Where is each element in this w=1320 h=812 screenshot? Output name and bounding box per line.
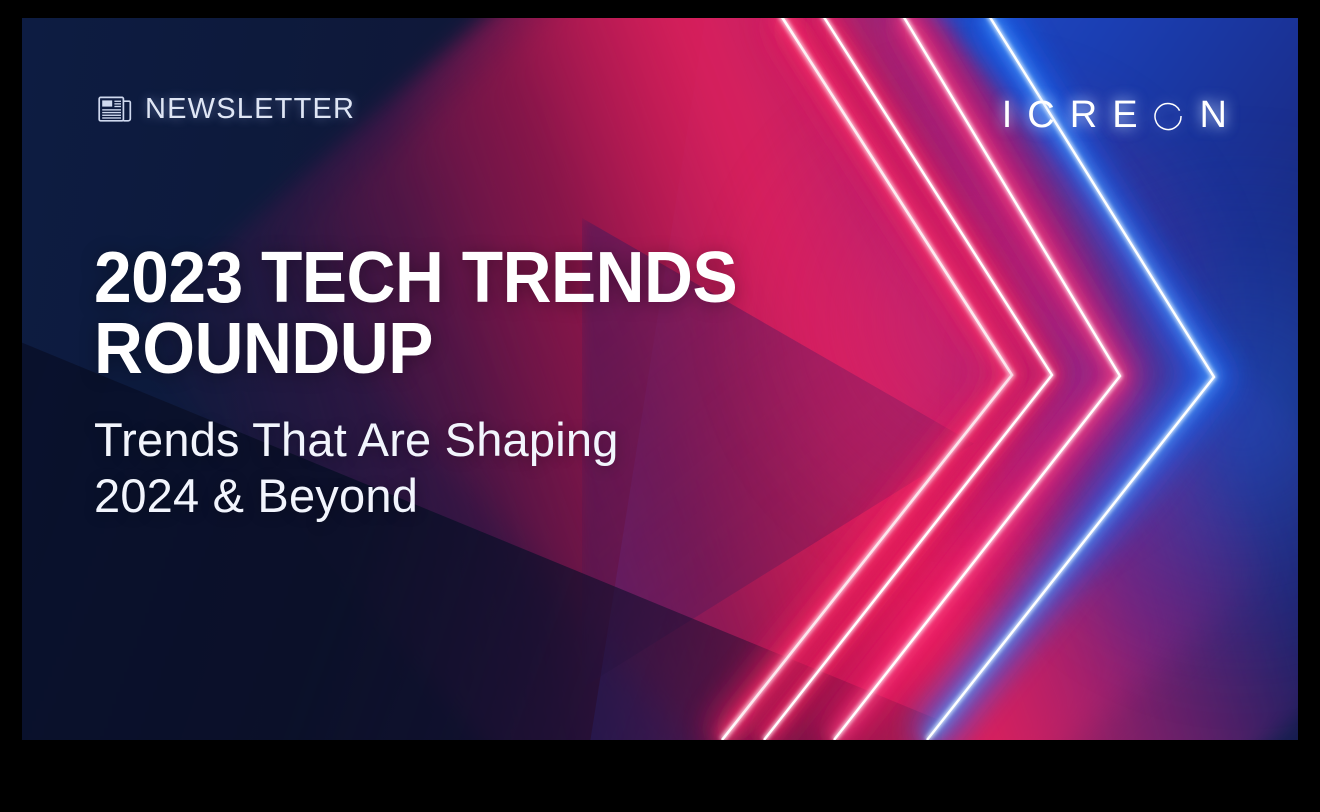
newspaper-icon	[98, 94, 132, 124]
logo-letter-o-ring	[1153, 100, 1185, 132]
newsletter-banner: NEWSLETTER I C R E N 2023 TECH TRENDS RO…	[22, 18, 1298, 740]
hero-title: 2023 TECH TRENDS ROUNDUP	[94, 243, 808, 386]
logo-letter-n: N	[1200, 96, 1242, 134]
hero-subtitle-line-2: 2024 & Beyond	[94, 469, 418, 522]
logo-letter-r: R	[1070, 96, 1112, 134]
screenshot-root: NEWSLETTER I C R E N 2023 TECH TRENDS RO…	[0, 0, 1320, 812]
logo-letter-c: C	[1027, 96, 1069, 134]
logo-letter-e: E	[1112, 96, 1152, 134]
hero-copy: 2023 TECH TRENDS ROUNDUP Trends That Are…	[94, 243, 854, 524]
hero-title-line-2: ROUNDUP	[94, 309, 433, 389]
newsletter-kicker: NEWSLETTER	[98, 94, 355, 124]
newsletter-kicker-label: NEWSLETTER	[145, 95, 355, 124]
icreon-logo[interactable]: I C R E N	[1002, 96, 1242, 134]
hero-subtitle: Trends That Are Shaping 2024 & Beyond	[94, 412, 854, 525]
hero-subtitle-line-1: Trends That Are Shaping	[94, 413, 619, 466]
hero-title-line-1: 2023 TECH TRENDS	[94, 238, 737, 318]
logo-letter-i: I	[1002, 96, 1028, 134]
